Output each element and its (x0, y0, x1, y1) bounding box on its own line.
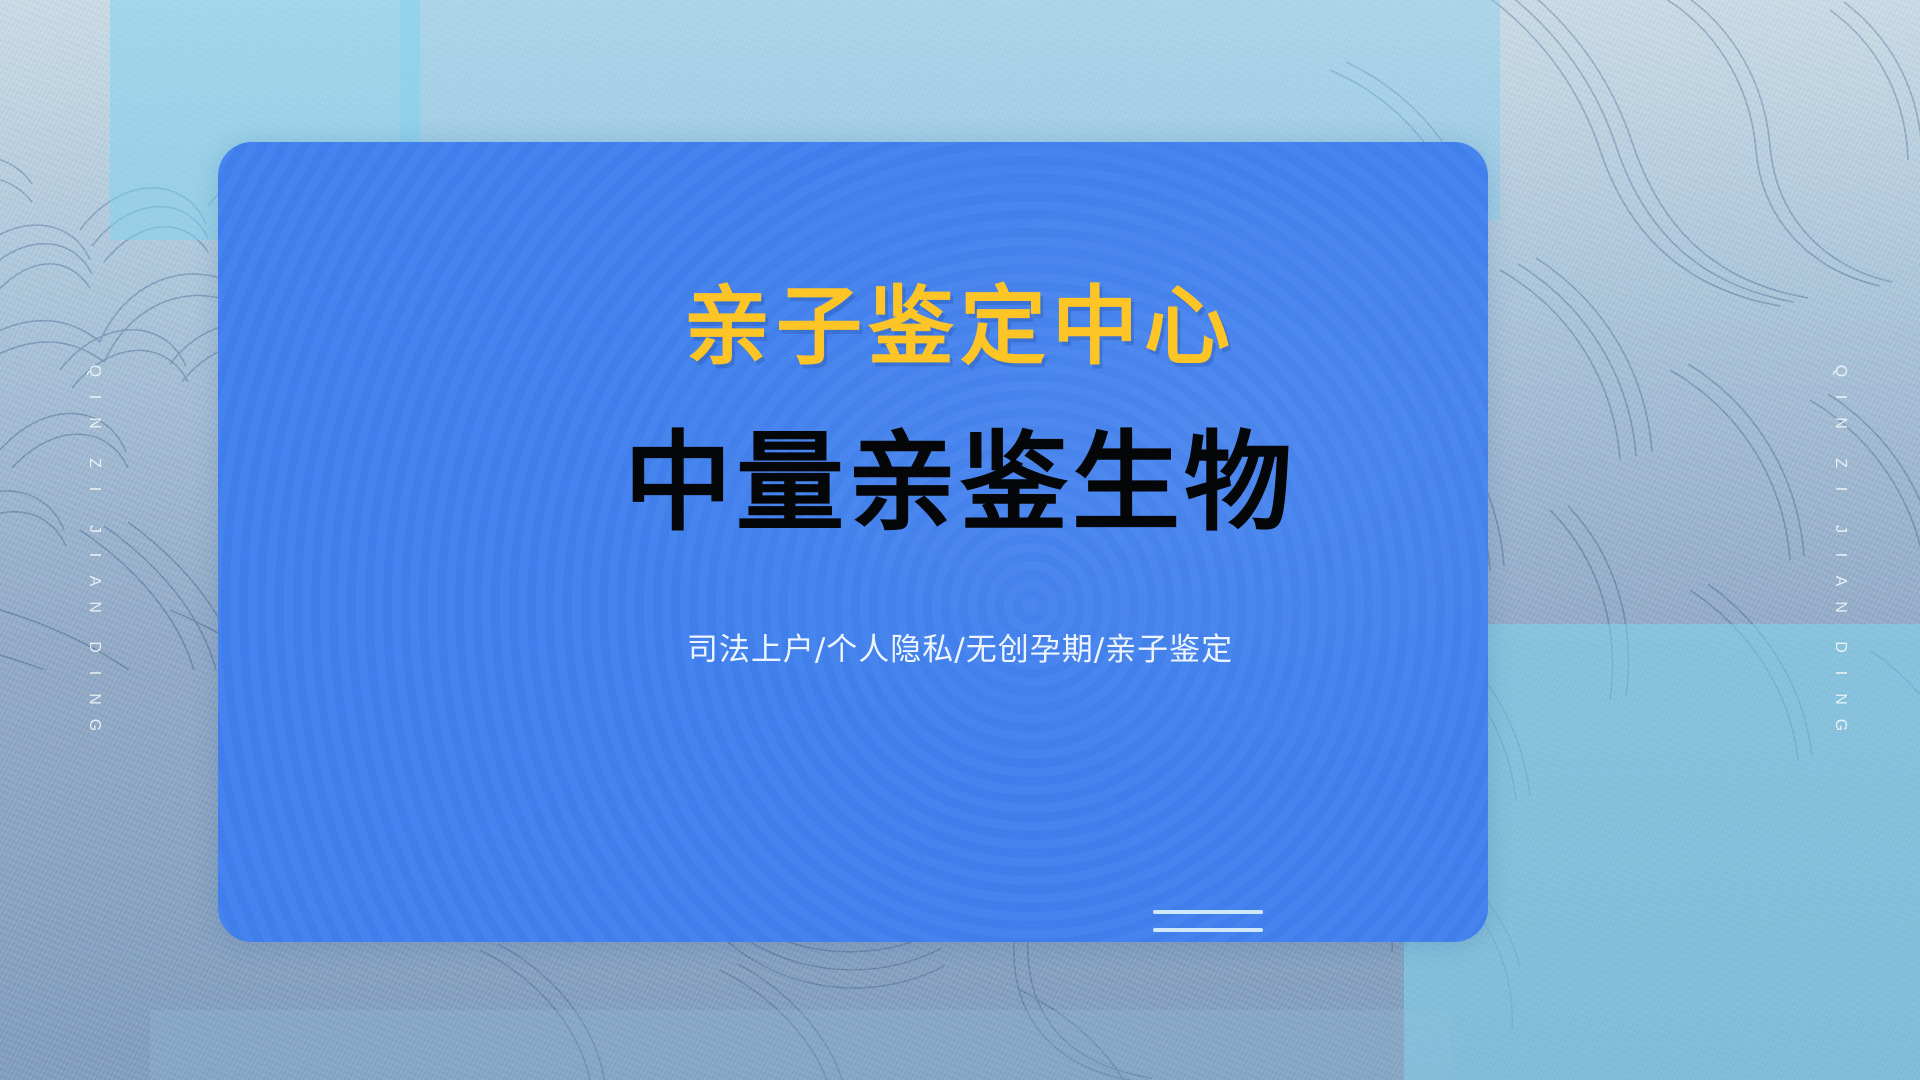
side-pinyin-left: QIN ZI JIAN DING (72, 358, 106, 738)
service-list: 司法上户/个人隐私/无创孕期/亲子鉴定 (0, 635, 1920, 666)
side-pinyin-right: QIN ZI JIAN DING (1818, 358, 1852, 738)
company-name: 中量亲鉴生物 (0, 430, 1920, 538)
poster-canvas: QIN ZI JIAN DING QIN ZI JIAN DING 亲子鉴定中心… (0, 0, 1920, 1080)
headline-accent: 亲子鉴定中心 (0, 284, 1920, 370)
decorative-line (1153, 910, 1263, 914)
decorative-lines (1153, 910, 1263, 942)
decorative-line (1153, 928, 1263, 932)
overlay-rect-bottom-strip (150, 1010, 1450, 1080)
